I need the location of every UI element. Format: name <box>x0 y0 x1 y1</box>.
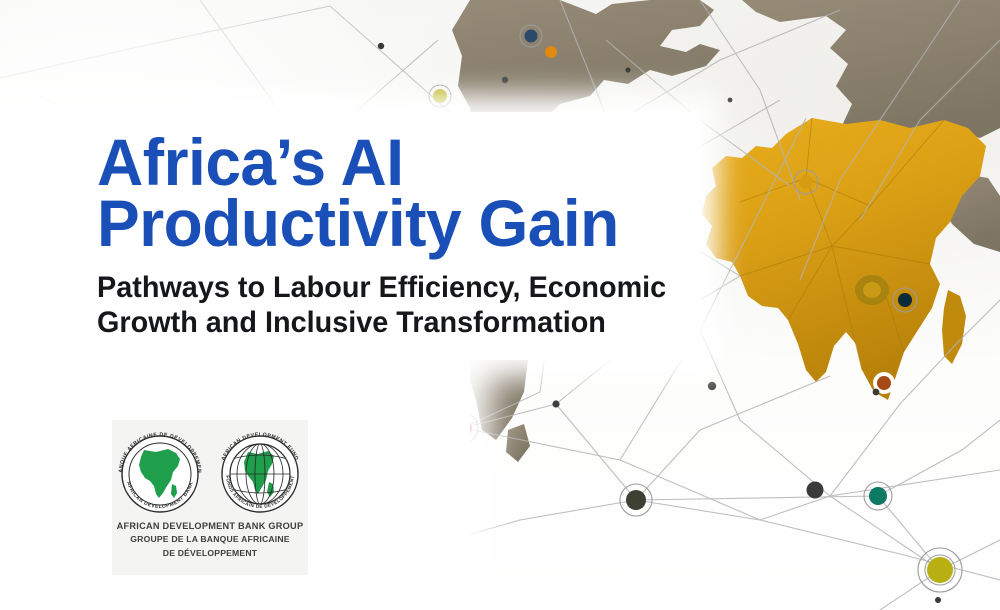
page-title-line-2: Productivity Gain <box>97 193 698 254</box>
node-dark-blue <box>898 293 912 307</box>
page-subtitle-line-2: Growth and Inclusive Transformation <box>97 306 692 341</box>
subtitle-block: Pathways to Labour Efficiency, Economic … <box>97 271 717 341</box>
logo-caption-en: AFRICAN DEVELOPMENT BANK GROUP <box>112 520 308 532</box>
cover-page: Africa’s AI Productivity Gain Pathways t… <box>0 0 1000 610</box>
headline-block: Africa’s AI Productivity Gain Pathways t… <box>97 132 717 340</box>
node-orange <box>545 46 557 58</box>
node-olive <box>433 89 447 103</box>
node-olive-dark <box>626 490 646 510</box>
afdb-logo-caption: AFRICAN DEVELOPMENT BANK GROUP GROUPE DE… <box>112 520 308 559</box>
logo-caption-fr-2: DE DÉVELOPPEMENT <box>112 548 308 559</box>
page-title-line-1: Africa’s AI <box>97 132 698 193</box>
node-teal <box>869 487 887 505</box>
afdb-fund-emblem: AFRICAN DEVELOPMENT FUND FONDS AFRICAIN … <box>221 432 300 512</box>
afdb-bank-emblem: BANQUE AFRICAINE DE DÉVELOPPEMENT AFRICA… <box>112 426 202 512</box>
node-gold <box>799 175 813 189</box>
page-subtitle-line-1: Pathways to Labour Efficiency, Economic <box>97 271 692 306</box>
node-yellow <box>927 557 953 583</box>
logo-caption-fr-1: GROUPE DE LA BANQUE AFRICAINE <box>112 534 308 545</box>
afdb-emblems: BANQUE AFRICAINE DE DÉVELOPPEMENT AFRICA… <box>112 426 308 518</box>
node-navy <box>525 30 538 43</box>
afdb-logo: BANQUE AFRICAINE DE DÉVELOPPEMENT AFRICA… <box>112 420 308 575</box>
